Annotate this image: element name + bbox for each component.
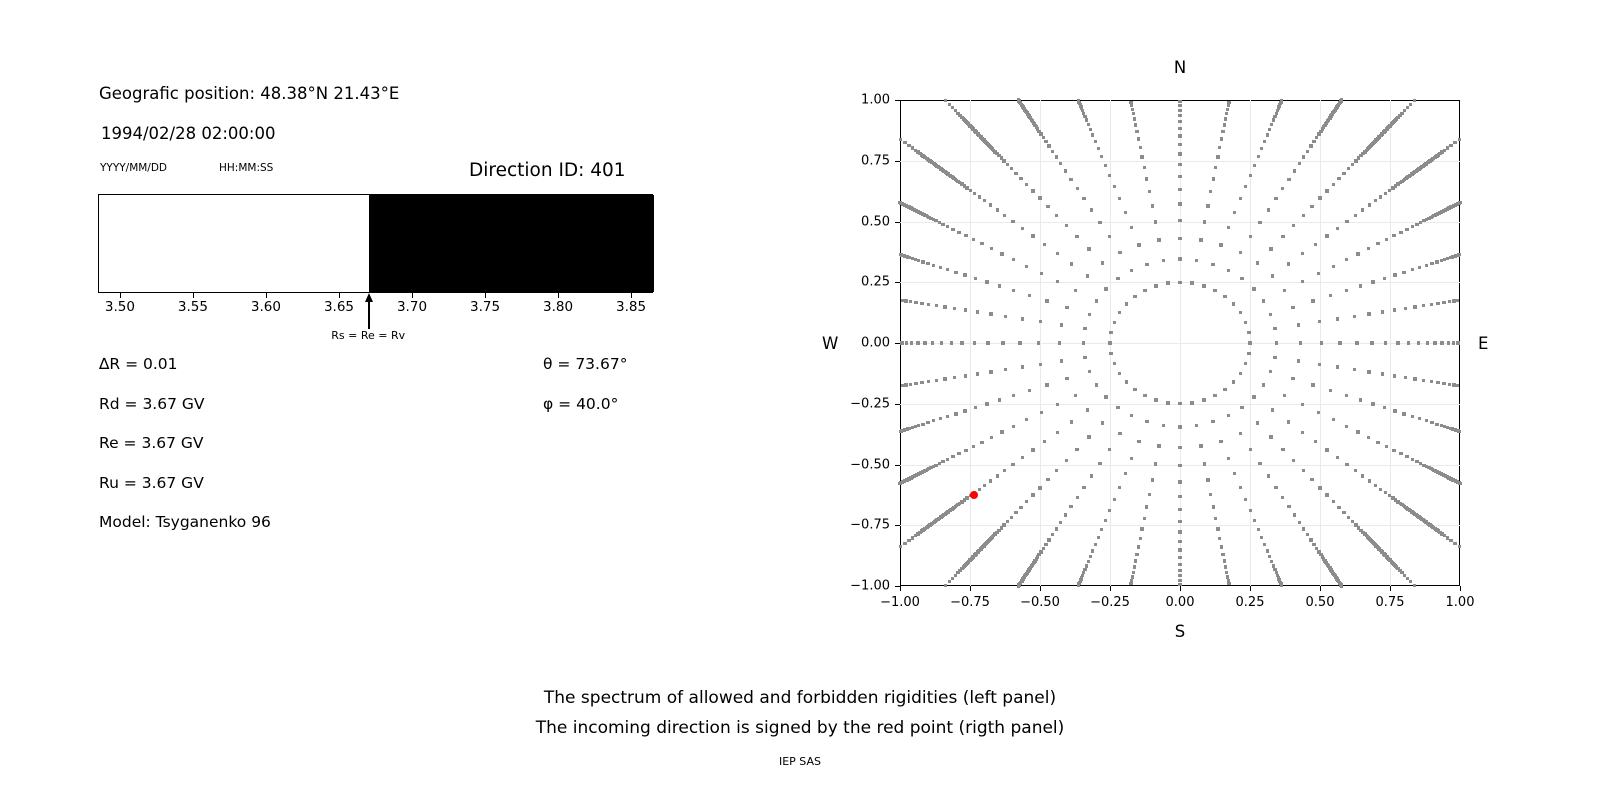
direction-point [1004, 315, 1007, 318]
direction-point [957, 452, 960, 455]
direction-point [917, 424, 920, 427]
direction-point [1417, 341, 1420, 344]
direction-point [1430, 421, 1433, 424]
direction-point [996, 208, 999, 211]
direction-point [1012, 258, 1015, 261]
direction-point [1384, 192, 1387, 195]
direction-point [1376, 242, 1379, 245]
direction-point [1101, 421, 1104, 424]
direction-point [1039, 320, 1042, 323]
spectrum-tick [120, 293, 121, 298]
direction-point [914, 534, 917, 537]
direction-point [911, 146, 914, 149]
direction-point [1151, 478, 1154, 481]
direction-point [1336, 317, 1339, 320]
direction-point [1267, 474, 1270, 477]
direction-point [1046, 205, 1049, 208]
direction-point [953, 307, 956, 310]
direction-point [1325, 234, 1328, 237]
direction-point [1010, 167, 1013, 170]
direction-point [1293, 169, 1296, 172]
direction-point [1403, 109, 1406, 112]
y-axis-tick [895, 404, 900, 405]
direction-point [1086, 408, 1089, 411]
direction-point [1070, 420, 1073, 423]
direction-point [1355, 341, 1358, 344]
direction-point [1418, 266, 1421, 269]
direction-point [1381, 372, 1384, 375]
direction-point [951, 455, 954, 458]
direction-point [1385, 445, 1388, 448]
direction-point [914, 425, 917, 428]
direction-point [976, 310, 979, 313]
direction-point [1037, 341, 1040, 344]
direction-point [1280, 584, 1283, 587]
y-axis-tick [895, 100, 900, 101]
direction-point [1345, 258, 1348, 261]
direction-point [1456, 341, 1459, 344]
x-axis-tick-label: −1.00 [880, 595, 920, 610]
y-axis-tick [895, 343, 900, 344]
direction-point [1220, 545, 1223, 548]
direction-point [1393, 409, 1396, 412]
direction-point [1137, 440, 1140, 443]
direction-point [943, 305, 946, 308]
direction-point [1028, 389, 1031, 392]
direction-point [1223, 123, 1226, 126]
direction-point [1025, 418, 1028, 421]
direction-point [972, 238, 975, 241]
direction-point [1108, 235, 1111, 238]
direction-point [1232, 302, 1235, 305]
direction-point [1132, 571, 1135, 574]
direction-point [978, 195, 981, 198]
arrow-shaft [368, 300, 369, 329]
direction-point [1118, 197, 1121, 200]
direction-point [1178, 480, 1181, 483]
direction-point [1002, 523, 1005, 526]
direction-point [1318, 196, 1321, 199]
direction-point [1413, 377, 1416, 380]
direction-point [1318, 320, 1321, 323]
direction-point [1436, 302, 1439, 305]
direction-point [905, 341, 908, 344]
direction-point [1266, 133, 1269, 136]
direction-point [1332, 500, 1335, 503]
direction-point [1130, 414, 1133, 417]
direction-point [1082, 486, 1085, 489]
spectrum-tick [412, 293, 413, 298]
direction-point [1134, 123, 1137, 126]
direction-point [1413, 305, 1416, 308]
spectrum-tick [485, 293, 486, 298]
direction-point [1448, 300, 1451, 303]
direction-point [927, 303, 930, 306]
direction-point [1225, 112, 1228, 115]
direction-point [1166, 401, 1169, 404]
direction-point [1273, 327, 1276, 330]
direction-point [1336, 456, 1339, 459]
direction-point [1253, 519, 1256, 522]
direction-point [1376, 441, 1379, 444]
direction-point [943, 377, 946, 380]
direction-point [1206, 478, 1209, 481]
direction-point [964, 374, 967, 377]
geographic-position-label: Geografic position: 48.38°N 21.43°E [99, 84, 399, 103]
direction-point [1178, 520, 1181, 523]
direction-point [1223, 388, 1226, 391]
direction-point [1281, 187, 1284, 190]
direction-point [1337, 506, 1340, 509]
direction-point [1435, 423, 1438, 426]
direction-point [1402, 412, 1405, 415]
direction-point [1314, 440, 1317, 443]
direction-point [1178, 104, 1181, 107]
direction-point [969, 189, 972, 192]
direction-point [1399, 231, 1402, 234]
direction-point [944, 99, 947, 102]
direction-point [1225, 571, 1228, 574]
direction-point [1252, 287, 1255, 290]
direction-point [901, 299, 904, 302]
direction-point [1031, 234, 1034, 237]
direction-point [1202, 398, 1205, 401]
direction-point [1098, 462, 1101, 465]
direction-point [996, 474, 999, 477]
direction-point [1227, 101, 1230, 104]
direction-point [1090, 208, 1093, 211]
direction-point [1031, 493, 1034, 496]
direction-point [1405, 455, 1408, 458]
direction-point [899, 430, 902, 433]
y-axis-tick-label: 0.25 [842, 275, 890, 290]
x-axis-tick-label: −0.25 [1090, 595, 1130, 610]
direction-point [1232, 380, 1235, 383]
direction-point [978, 488, 981, 491]
direction-point [1082, 197, 1085, 200]
direction-point [1178, 120, 1181, 123]
direction-point [1003, 469, 1006, 472]
direction-point [941, 223, 944, 226]
direction-point [1116, 277, 1119, 280]
direction-point [1133, 117, 1136, 120]
direction-point [1381, 310, 1384, 313]
direction-point [1125, 302, 1128, 305]
direction-point [1113, 321, 1116, 324]
direction-point [1271, 408, 1274, 411]
direction-point [1320, 341, 1323, 344]
direction-point [1139, 146, 1142, 149]
direction-point [1028, 294, 1031, 297]
direction-point [1347, 167, 1350, 170]
direction-point [951, 577, 954, 580]
direction-point [946, 268, 949, 271]
direction-point [1212, 177, 1215, 180]
direction-point [1012, 394, 1015, 397]
spectrum-tick-label: 3.70 [397, 299, 427, 315]
direction-point [1021, 365, 1024, 368]
direction-point [1058, 341, 1061, 344]
direction-point [1353, 315, 1356, 318]
direction-point [1038, 196, 1041, 199]
direction-point [1345, 289, 1348, 292]
time-format-hint: HH:MM:SS [219, 162, 273, 174]
direction-point [1345, 463, 1348, 466]
direction-point [1249, 509, 1252, 512]
direction-point [1090, 474, 1093, 477]
direction-point [1227, 226, 1230, 229]
date-format-hint: YYYY/MM/DD [100, 162, 167, 174]
direction-point [1270, 560, 1273, 563]
y-axis-tick [895, 525, 900, 526]
direction-point [935, 304, 938, 307]
direction-point [1332, 265, 1335, 268]
direction-point [1109, 352, 1112, 355]
direction-point [1302, 155, 1305, 158]
direction-point [1209, 493, 1212, 496]
direction-point [1055, 527, 1058, 530]
direction-point [1133, 388, 1136, 391]
direction-point [899, 138, 902, 141]
direction-point [910, 341, 913, 344]
direction-point [1137, 243, 1140, 246]
direction-point [1263, 140, 1266, 143]
direction-point [1070, 262, 1073, 265]
direction-point [939, 417, 942, 420]
direction-point [1392, 234, 1395, 237]
direction-point [1087, 435, 1090, 438]
direction-point [921, 423, 924, 426]
datetime-label: 1994/02/28 02:00:00 [101, 124, 275, 143]
direction-point [920, 381, 923, 384]
spectrum-tick [631, 293, 632, 298]
direction-point [1318, 486, 1321, 489]
direction-point [1134, 559, 1137, 562]
direction-point [1458, 138, 1461, 141]
direction-point [1297, 359, 1300, 362]
x-axis-tick-label: 0.25 [1236, 595, 1265, 610]
direction-point [1195, 259, 1198, 262]
direction-point [904, 299, 907, 302]
direction-point [1055, 469, 1058, 472]
direction-point [1233, 472, 1236, 475]
direction-point [1223, 295, 1226, 298]
direction-point [964, 234, 967, 237]
direction-point [1409, 103, 1412, 106]
direction-point [935, 379, 938, 382]
direction-point [1135, 130, 1138, 133]
direction-point [946, 458, 949, 461]
direction-point [1404, 307, 1407, 310]
direction-point [1130, 269, 1133, 272]
direction-point [1430, 303, 1433, 306]
direction-point [1411, 415, 1414, 418]
caption-line-2: The incoming direction is signed by the … [536, 718, 1065, 738]
direction-point [1143, 289, 1146, 292]
direction-point [983, 199, 986, 202]
direction-point [1045, 299, 1048, 302]
direction-point [1262, 383, 1265, 386]
direction-point [1056, 403, 1059, 406]
direction-point [1393, 308, 1396, 311]
direction-point [1190, 401, 1193, 404]
direction-point [1224, 565, 1227, 568]
direction-point [1065, 224, 1068, 227]
direction-point [1095, 383, 1098, 386]
direction-point [1371, 402, 1374, 405]
spectrum-tick-label: 3.65 [324, 299, 354, 315]
direction-point [1269, 247, 1272, 250]
direction-point [1227, 104, 1230, 107]
direction-point [1453, 542, 1456, 545]
spectrum-tick [339, 293, 340, 298]
direction-point [1214, 166, 1217, 169]
direction-point [1000, 430, 1003, 433]
direction-point [1411, 225, 1414, 228]
direction-point [1274, 486, 1277, 489]
direction-point [1353, 368, 1356, 371]
direction-point [1113, 498, 1116, 501]
direction-point [1157, 444, 1160, 447]
direction-point [1124, 472, 1127, 475]
direction-point [998, 398, 1001, 401]
direction-point [1178, 100, 1181, 103]
direction-point [1452, 341, 1455, 344]
y-axis-tick-label: 0.00 [842, 336, 890, 351]
direction-point [1361, 474, 1364, 477]
direction-point [920, 302, 923, 305]
direction-point [980, 242, 983, 245]
direction-point [1178, 464, 1181, 467]
direction-point [1442, 301, 1445, 304]
direction-point [1399, 452, 1402, 455]
direction-point [914, 149, 917, 152]
direction-point [1083, 115, 1086, 118]
direction-point [1178, 281, 1181, 284]
direction-point [1195, 424, 1198, 427]
direction-point [1267, 208, 1270, 211]
direction-point [932, 419, 935, 422]
direction-point [1178, 548, 1181, 551]
direction-point [1312, 140, 1315, 143]
direction-point [1019, 506, 1022, 509]
direction-point [963, 273, 966, 276]
direction-point [1447, 341, 1450, 344]
direction-point [1218, 146, 1221, 149]
direction-point [1415, 460, 1418, 463]
direction-point [1258, 221, 1261, 224]
direction-point [1422, 379, 1425, 382]
direction-point [980, 441, 983, 444]
direction-point [941, 460, 944, 463]
direction-point [1407, 341, 1410, 344]
y-axis-tick-label: −0.50 [842, 457, 890, 472]
direction-point [926, 262, 929, 265]
direction-point [1137, 545, 1140, 548]
direction-point [1014, 511, 1017, 514]
direction-point [1393, 374, 1396, 377]
direction-point [1116, 406, 1119, 409]
direction-point [1074, 394, 1077, 397]
direction-point [1139, 537, 1142, 540]
direction-point [1031, 189, 1034, 192]
y-axis-tick-label: 0.75 [842, 153, 890, 168]
direction-point [1012, 289, 1015, 292]
direction-point [1287, 262, 1290, 265]
direction-point [1332, 418, 1335, 421]
direction-point [1356, 252, 1359, 255]
direction-point [938, 221, 941, 224]
direction-point [1271, 274, 1274, 277]
direction-point [1221, 553, 1224, 556]
direction-point [1178, 152, 1181, 155]
direction-point [990, 247, 993, 250]
direction-point [1442, 382, 1445, 385]
y-axis-tick [895, 282, 900, 283]
direction-point [911, 536, 914, 539]
rigidity-spectrum-panel: Geografic position: 48.38°N 21.43°E 1994… [0, 0, 720, 620]
direction-point [1132, 112, 1135, 115]
direction-point [1345, 425, 1348, 428]
direction-point [1280, 99, 1283, 102]
allowed-rigidity-region [99, 195, 369, 292]
direction-point [1227, 457, 1230, 460]
cutoff-arrow-marker [368, 293, 370, 329]
direction-point [1014, 172, 1017, 175]
direction-point [909, 383, 912, 386]
direction-point [1129, 582, 1132, 585]
direction-point [1178, 134, 1181, 137]
direction-point [1227, 414, 1230, 417]
spectrum-tick-label: 3.85 [616, 299, 646, 315]
direction-point [1100, 155, 1103, 158]
direction-point [1370, 341, 1373, 344]
direction-point [1413, 584, 1416, 587]
direction-point [1402, 271, 1405, 274]
x-axis-tick [1250, 586, 1251, 591]
direction-point [1039, 363, 1042, 366]
y-axis-tick-label: −0.25 [842, 396, 890, 411]
direction-point [1143, 517, 1146, 520]
direction-point [1043, 243, 1046, 246]
direction-point [1299, 341, 1302, 344]
direction-point [1104, 287, 1107, 290]
direction-point [940, 341, 943, 344]
direction-point [1157, 238, 1160, 241]
direction-point [973, 192, 976, 195]
direction-point [1044, 140, 1047, 143]
direction-point [1297, 323, 1300, 326]
direction-point [1418, 417, 1421, 420]
direction-point [1130, 457, 1133, 460]
direction-point [1056, 252, 1059, 255]
direction-point [1371, 280, 1374, 283]
x-axis-tick-label: 0.50 [1306, 595, 1335, 610]
y-axis-tick-label: −0.75 [842, 518, 890, 533]
direction-point [1056, 280, 1059, 283]
direction-point [1199, 444, 1202, 447]
direction-point [1006, 520, 1009, 523]
direction-point [1411, 458, 1414, 461]
direction-point [1396, 341, 1399, 344]
direction-point [1302, 469, 1305, 472]
direction-point [1124, 211, 1127, 214]
direction-point [1162, 424, 1165, 427]
direction-point [1104, 519, 1107, 522]
direction-point [1017, 584, 1020, 587]
spectrum-tick [266, 293, 267, 298]
direction-point [1239, 197, 1242, 200]
